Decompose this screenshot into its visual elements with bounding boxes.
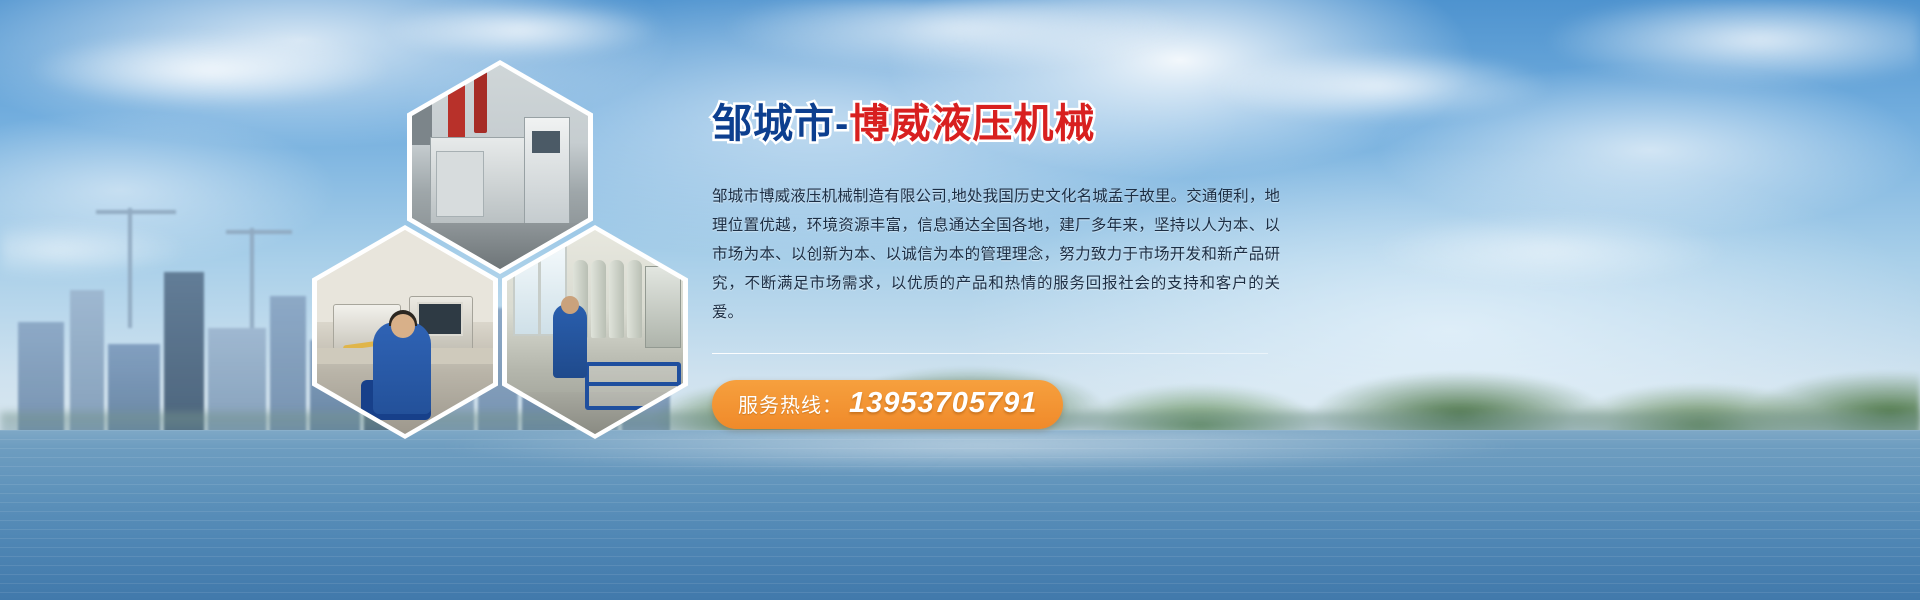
cnc-machine-photo xyxy=(412,65,588,269)
title-city-part: 邹城市- xyxy=(712,102,849,146)
hotline-label: 服务热线： xyxy=(738,389,843,418)
laboratory-photo xyxy=(317,230,493,434)
hex-image-cnc-machine-shop xyxy=(407,60,593,274)
company-hero-banner: 邹城市-博威液压机械 邹城市博威液压机械制造有限公司,地处我国历史文化名城孟子故… xyxy=(0,0,1920,600)
hex-image-laboratory-testing xyxy=(312,225,498,439)
hotline-number: 13953705791 xyxy=(849,387,1037,420)
hotline-badge[interactable]: 服务热线： 13953705791 xyxy=(712,380,1063,429)
water-reflection xyxy=(0,430,1920,490)
title-brand-part: 博威液压机械 xyxy=(849,102,1095,146)
hexagon-image-cluster xyxy=(300,60,700,450)
hex-image-hydraulic-test-bench xyxy=(502,225,688,439)
banner-text-column: 邹城市-博威液压机械 邹城市博威液压机械制造有限公司,地处我国历史文化名城孟子故… xyxy=(712,100,1292,429)
test-bench-photo xyxy=(507,230,683,434)
company-title: 邹城市-博威液压机械 xyxy=(712,100,1292,148)
company-description: 邹城市博威液压机械制造有限公司,地处我国历史文化名城孟子故里。交通便利，地理位置… xyxy=(712,182,1280,327)
section-divider xyxy=(712,353,1268,354)
